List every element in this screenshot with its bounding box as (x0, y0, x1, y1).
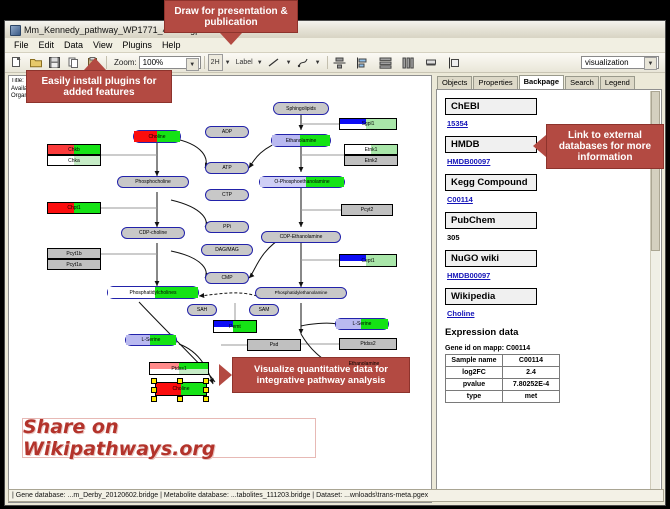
node-label: SAM (259, 307, 270, 313)
gene-label: Etnk2 (365, 158, 378, 164)
gene-label: Ptdss2 (360, 341, 375, 347)
db-link-kegg[interactable]: C00114 (447, 195, 655, 204)
callout-draw: Draw for presentation & publication (164, 0, 298, 33)
pathvisio-icon (9, 24, 20, 35)
zoom-combo[interactable]: 100% ▼ (139, 56, 201, 69)
share-banner: Share on Wikipathways.org (22, 418, 316, 458)
align-center-icon[interactable] (331, 54, 348, 71)
node-label: L-Serine (142, 337, 161, 343)
chevron-down-icon[interactable]: ▼ (644, 57, 657, 70)
node-label: Phosphatidylcholines (130, 290, 177, 296)
gene-label: Etnk1 (365, 147, 378, 153)
expr-key: Sample name (446, 355, 503, 367)
menu-item-file[interactable]: File (9, 39, 34, 51)
tab-search[interactable]: Search (565, 76, 599, 89)
node-label: Choline (173, 386, 190, 392)
gene-label: Pcyt2 (361, 207, 374, 213)
expr-value: 7.80252E-4 (503, 379, 560, 391)
line-tool-icon[interactable] (266, 54, 283, 71)
zoom-label: Zoom: (114, 58, 137, 67)
callout-plugins-arrow (84, 58, 106, 70)
visualization-combo-value: visualization (585, 58, 629, 67)
db-header-hmdb: HMDB (445, 136, 537, 153)
gene-ptdss2[interactable]: Ptdss2 (339, 338, 397, 350)
node-label: Phosphatidylethanolamine (275, 290, 328, 296)
callout-text: Easily install plugins for added feature… (27, 76, 171, 98)
node-phosphatidylethanolamine[interactable]: Phosphatidylethanolamine (255, 287, 347, 299)
node-sam[interactable]: SAM (249, 304, 279, 316)
node-label: Sphingolipids (286, 106, 316, 112)
gene-ptdss1[interactable]: Ptdss1 (149, 362, 209, 375)
node-atp[interactable]: ATP (205, 162, 249, 174)
gene-chpt1[interactable]: Chpt1 (47, 202, 101, 214)
node-label: Ethanolamine (349, 361, 380, 367)
db-header-chebi: ChEBI (445, 98, 537, 115)
table-row: type met (446, 391, 560, 403)
callout-text: Draw for presentation & publication (165, 6, 297, 28)
callout-visualize-arrow (219, 364, 232, 386)
callout-text: Visualize quantitative data for integrat… (233, 364, 409, 386)
gene-label: Pcyt1a (66, 262, 81, 268)
align-left-icon[interactable] (354, 54, 371, 71)
expression-data-heading: Expression data (445, 327, 655, 338)
expr-value: C00114 (503, 355, 560, 367)
gene-label: Psd (270, 342, 279, 348)
menu-item-help[interactable]: Help (157, 39, 186, 51)
db-link-nugo[interactable]: HMDB00097 (447, 271, 655, 280)
gene-etnk2[interactable]: Etnk2 (344, 155, 398, 166)
db-header-nugo: NuGO wiki (445, 250, 537, 267)
copy-icon[interactable] (65, 54, 82, 71)
scrollbar-thumb[interactable] (651, 91, 660, 251)
gene-sgpl1[interactable]: Sgpl1 (339, 118, 397, 130)
share-banner-text: Share on Wikipathways.org (23, 416, 315, 460)
gene-chkb[interactable]: Chkb (47, 144, 101, 155)
node-label: Ethanolamine (286, 138, 317, 144)
chevron-down-icon[interactable]: ▼ (315, 60, 321, 66)
status-bar-text: | Gene database: ...m_Derby_20120602.bri… (12, 492, 428, 499)
tab-backpage[interactable]: Backpage (519, 75, 564, 89)
open-icon[interactable] (27, 54, 44, 71)
menu-item-view[interactable]: View (88, 39, 117, 51)
gene-pemt[interactable]: Pemt (213, 320, 257, 333)
node-label: Phosphocholine (135, 179, 171, 185)
expr-value: 2.4 (503, 367, 560, 379)
toolbar-separator (327, 56, 328, 69)
db-link-wikipedia[interactable]: Choline (447, 309, 655, 318)
expr-value: met (503, 391, 560, 403)
menu-bar: File Edit Data View Plugins Help (5, 38, 665, 53)
node-cdp-choline[interactable]: CDP-choline (121, 227, 185, 239)
label-dropdown[interactable]: Label (234, 55, 255, 70)
expr-key: pvalue (446, 379, 503, 391)
gene-id-on-mapp: Gene id on mapp: C00114 (445, 345, 655, 352)
node-label: CMP (221, 275, 232, 281)
shape-dropdown-label: 2H (211, 59, 220, 66)
status-bar: | Gene database: ...m_Derby_20120602.bri… (8, 489, 664, 502)
node-label: ATP (222, 165, 231, 171)
callout-draw-arrow (220, 33, 242, 45)
node-label: CDP-choline (139, 230, 167, 236)
stack-icon[interactable] (423, 54, 440, 71)
chevron-down-icon[interactable]: ▼ (257, 60, 263, 66)
table-row: pvalue 7.80252E-4 (446, 379, 560, 391)
gene-psd[interactable]: Psd (247, 339, 301, 351)
label-dropdown-label: Label (236, 59, 253, 66)
db-header-kegg: Kegg Compound (445, 174, 537, 191)
node-phosphocholine[interactable]: Phosphocholine (117, 176, 189, 188)
expression-table: Sample name C00114 log2FC 2.4 pvalue 7.8… (445, 354, 560, 403)
node-l-serine-right[interactable]: L-Serine (335, 318, 389, 330)
menu-item-plugins[interactable]: Plugins (117, 39, 157, 51)
gene-pcyt1b[interactable]: Pcyt1b (47, 248, 101, 259)
gene-label: Chka (68, 158, 80, 164)
group-icon[interactable] (446, 54, 463, 71)
callout-visualize: Visualize quantitative data for integrat… (232, 357, 410, 393)
table-row: log2FC 2.4 (446, 367, 560, 379)
node-label: O-Phosphoethanolamine (274, 179, 329, 185)
node-label: Choline (149, 134, 166, 140)
node-sphingolipids[interactable]: Sphingolipids (273, 102, 329, 115)
interaction-tool-icon[interactable] (295, 54, 312, 71)
tab-legend[interactable]: Legend (600, 76, 635, 89)
chevron-down-icon[interactable]: ▼ (286, 60, 292, 66)
node-choline-selected[interactable]: Choline (155, 382, 207, 396)
window-titlebar: Mm_Kennedy_pathway_WP1771_45176.gpml (5, 21, 665, 39)
node-label: ADP (222, 129, 232, 135)
node-ethanolamine[interactable]: Ethanolamine (271, 134, 331, 147)
callout-text: Link to external databases for more info… (547, 130, 663, 163)
new-icon[interactable] (8, 54, 25, 71)
gene-chka[interactable]: Chka (47, 155, 101, 166)
db-header-wikipedia: Wikipedia (445, 288, 537, 305)
node-dag-mag[interactable]: DAG/MAG (201, 244, 253, 256)
gene-pcyt1a[interactable]: Pcyt1a (47, 259, 101, 270)
distribute-vertical-icon[interactable] (377, 54, 394, 71)
expr-key: log2FC (446, 367, 503, 379)
node-label: PPi (223, 224, 231, 230)
visualization-combo[interactable]: visualization ▼ (581, 56, 659, 69)
node-choline-top[interactable]: Choline (133, 130, 181, 143)
callout-links-arrow (533, 135, 546, 157)
node-label: CTP (222, 192, 232, 198)
toolbar-separator (106, 56, 107, 69)
gene-cept1[interactable]: Cept1 (339, 254, 397, 267)
callout-links: Link to external databases for more info… (546, 124, 664, 169)
node-ppi[interactable]: PPi (205, 221, 249, 233)
chevron-down-icon[interactable]: ▼ (225, 60, 231, 66)
side-panel-tabs: Objects Properties Backpage Search Legen… (434, 75, 664, 89)
gene-etnk1[interactable]: Etnk1 (344, 144, 398, 155)
db-value-pubchem: 305 (447, 233, 655, 242)
gene-label: Pemt (229, 324, 241, 330)
gene-label: Ptdss1 (171, 366, 186, 372)
shape-dropdown[interactable]: 2H (208, 54, 223, 71)
gene-label: Cept1 (361, 258, 374, 264)
node-adp[interactable]: ADP (205, 126, 249, 138)
tab-properties[interactable]: Properties (473, 76, 517, 89)
tab-objects[interactable]: Objects (437, 76, 472, 89)
gene-label: Chpt1 (67, 205, 80, 211)
expr-key: type (446, 391, 503, 403)
gene-label: Chkb (68, 147, 80, 153)
distribute-horizontal-icon[interactable] (400, 54, 417, 71)
node-cmp[interactable]: CMP (205, 272, 249, 284)
callout-plugins: Easily install plugins for added feature… (26, 70, 172, 103)
gene-label: Sgpl1 (362, 121, 375, 127)
node-label: DAG/MAG (215, 247, 239, 253)
node-sah[interactable]: SAH (187, 304, 217, 316)
menu-item-data[interactable]: Data (59, 39, 88, 51)
chevron-down-icon[interactable]: ▼ (186, 58, 199, 71)
toolbar-separator (204, 56, 205, 69)
screenshot-root: Mm_Kennedy_pathway_WP1771_45176.gpml Fil… (0, 0, 670, 509)
node-label: SAH (197, 307, 207, 313)
node-cdp-ethanolamine[interactable]: CDP-Ethanolamine (261, 231, 341, 243)
node-phosphatidylcholines[interactable]: Phosphatidylcholines (107, 286, 199, 299)
table-row: Sample name C00114 (446, 355, 560, 367)
gene-pcyt2[interactable]: Pcyt2 (341, 204, 393, 216)
node-l-serine-left[interactable]: L-Serine (125, 334, 177, 346)
db-header-pubchem: PubChem (445, 212, 537, 229)
save-icon[interactable] (46, 54, 63, 71)
menu-item-edit[interactable]: Edit (34, 39, 60, 51)
node-label: CDP-Ethanolamine (280, 234, 323, 240)
node-o-phosphoethanolamine[interactable]: O-Phosphoethanolamine (259, 176, 345, 188)
node-label: L-Serine (353, 321, 372, 327)
node-ctp[interactable]: CTP (205, 189, 249, 201)
gene-label: Pcyt1b (66, 251, 81, 257)
zoom-value: 100% (143, 58, 163, 67)
